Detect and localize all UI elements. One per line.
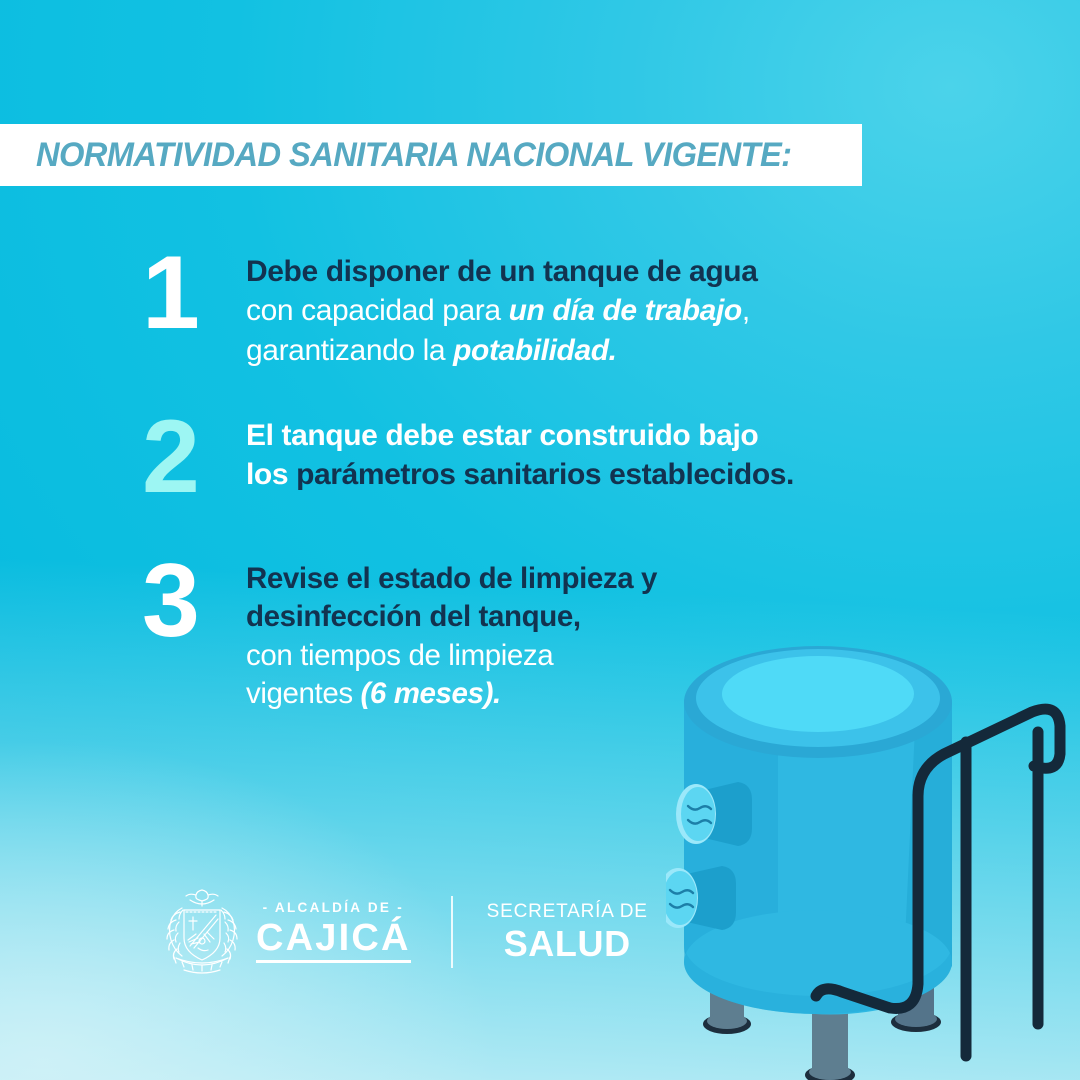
text-bold-dark: parámetros sanitarios establecidos. [296,458,794,491]
list-item-line: Debe disponer de un tanque de agua [246,252,1042,291]
list-item-line: El tanque debe estar construido bajo [246,416,1042,455]
secretaria-name: SALUD [504,926,631,962]
list-item-text: Debe disponer de un tanque de agua con c… [246,246,1042,370]
list-item: 1 Debe disponer de un tanque de agua con… [142,246,1042,370]
text-italic: potabilidad. [453,334,617,367]
text-italic: un día de trabajo [509,294,742,327]
list-item-line: garantizando la potabilidad. [246,331,1042,370]
list-item: 3 Revise el estado de limpieza y desinfe… [142,554,1042,715]
text-bold: desinfección del tanque, [246,600,581,633]
list-item-text: Revise el estado de limpieza y desinfecc… [246,554,1042,715]
list-item-line: con capacidad para un día de trabajo, [246,291,1042,330]
list-item-line: con tiempos de limpieza [246,637,1042,676]
list-item-line: Revise el estado de limpieza y [246,560,1042,599]
cajica-coat-of-arms-icon [160,886,244,978]
tank-valve-lower [666,866,736,930]
text-tail: , [742,294,750,327]
text-italic: (6 meses). [360,677,500,710]
alcaldia-eyebrow: - ALCALDÍA DE - [263,901,405,915]
text-regular: vigentes [246,677,360,710]
list-item-number: 3 [142,554,246,650]
list-item-line: desinfección del tanque, [246,598,1042,637]
tank-valve-upper [676,782,752,846]
text-bold: El tanque debe estar construido bajo [246,419,758,452]
text-regular: garantizando la [246,334,453,367]
alcaldia-name: CAJICÁ [256,919,411,963]
vertical-divider [451,896,453,968]
page-title: NORMATIVIDAD SANITARIA NACIONAL VIGENTE: [36,136,791,175]
text-regular: con capacidad para [246,294,509,327]
list-item-line: los parámetros sanitarios establecidos. [246,455,1042,494]
text-bold: Revise el estado de limpieza y [246,562,657,595]
text-bold: Debe disponer de un tanque de agua [246,255,757,288]
requirements-list: 1 Debe disponer de un tanque de agua con… [142,246,1042,748]
list-item-number: 1 [142,246,246,342]
title-banner: NORMATIVIDAD SANITARIA NACIONAL VIGENTE: [0,124,862,186]
list-item-text: El tanque debe estar construido bajo los… [246,410,1042,495]
footer-branding: - ALCALDÍA DE - CAJICÁ SECRETARÍA DE SAL… [160,884,648,980]
list-item: 2 El tanque debe estar construido bajo l… [142,410,1042,506]
list-item-number: 2 [142,410,246,506]
secretaria-salud-lockup: SECRETARÍA DE SALUD [487,902,648,962]
text-bold: los [246,458,296,491]
list-item-line: vigentes (6 meses). [246,675,1042,714]
text-regular: con tiempos de limpieza [246,639,553,672]
poster-canvas: NORMATIVIDAD SANITARIA NACIONAL VIGENTE:… [0,0,1080,1080]
alcaldia-lockup: - ALCALDÍA DE - CAJICÁ [256,901,411,963]
secretaria-eyebrow: SECRETARÍA DE [487,902,648,921]
